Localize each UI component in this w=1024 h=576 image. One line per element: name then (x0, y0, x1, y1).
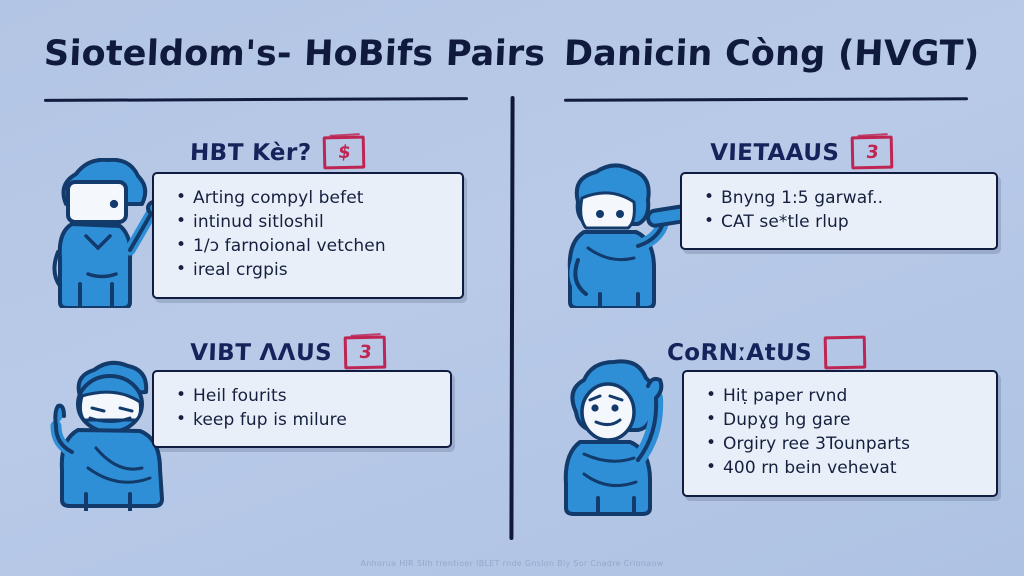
bullet-list: Bnyng 1:5 garwaf.. CAT se*tle rlup (704, 186, 978, 234)
section-heading-left-2: VIBT ΛΛUS 3 (190, 336, 386, 369)
footer-caption: Anhorua HIR SIIh trentioer IBLET rnde Gn… (0, 559, 1024, 568)
bullet-card-right-2: Hiṭ paper rvnd Dupɣg hg gare Orgiry ree … (682, 370, 998, 497)
bullet-list: Arting compyl befet intinud sitloshil 1/… (176, 186, 444, 283)
list-item: Hiṭ paper rvnd (706, 384, 978, 408)
list-item: intinud sitloshil (176, 210, 444, 234)
section-heading-right-1: VIETAAUS 3 (710, 136, 893, 169)
list-item: Bnyng 1:5 garwaf.. (704, 186, 978, 210)
character-figure-curly-hair-arm-raised (550, 356, 700, 520)
bullet-list: Hiṭ paper rvnd Dupɣg hg gare Orgiry ree … (706, 384, 978, 481)
bullet-card-left-1: Arting compyl befet intinud sitloshil 1/… (152, 172, 464, 299)
red-annotation-box-icon (824, 336, 867, 370)
red-box-glyph: $ (337, 143, 352, 161)
red-annotation-box-icon: $ (323, 136, 366, 170)
list-item: Orgiry ree 3Tounparts (706, 432, 978, 456)
red-box-glyph: 3 (358, 343, 373, 361)
list-item: keep fup is milure (176, 408, 432, 432)
red-box-glyph: 3 (865, 143, 880, 161)
column-left: Sioteldom's- HoBifs Pairs (0, 0, 512, 576)
section-heading-text: CoRNːAtUS (667, 340, 813, 366)
column-title-underline-right (564, 97, 968, 101)
section-heading-text: VIBT ΛΛUS (190, 340, 333, 366)
column-title-right: Danicin Còng (HVGT) (563, 34, 980, 74)
section-heading-left-1: HBT Kèr? $ (190, 136, 365, 169)
section-heading-right-2: CoRNːAtUS (667, 336, 866, 369)
list-item: Heil fourits (176, 384, 432, 408)
list-item: 400 rn bein vehevat (706, 456, 978, 480)
section-heading-text: HBT Kèr? (190, 140, 312, 166)
column-title-left: Sioteldom's- HoBifs Pairs (43, 34, 546, 74)
list-item: ireal crgpis (176, 258, 444, 282)
column-right: Danicin Còng (HVGT) (512, 0, 1024, 576)
red-annotation-box-icon: 3 (344, 336, 387, 370)
red-annotation-box-icon: 3 (851, 136, 894, 170)
list-item: Dupɣg hg gare (706, 408, 978, 432)
bullet-card-left-2: Heil fourits keep fup is milure (152, 370, 452, 448)
column-title-underline-left (44, 97, 468, 102)
list-item: Arting compyl befet (176, 186, 444, 210)
whiteboard-canvas: Sioteldom's- HoBifs Pairs (0, 0, 1024, 576)
bullet-list: Heil fourits keep fup is milure (176, 384, 432, 432)
list-item: CAT se*tle rlup (704, 210, 978, 234)
list-item: 1/ɔ farnoional vetchen (176, 234, 444, 258)
bullet-card-right-1: Bnyng 1:5 garwaf.. CAT se*tle rlup (680, 172, 998, 250)
section-heading-text: VIETAAUS (710, 140, 840, 166)
